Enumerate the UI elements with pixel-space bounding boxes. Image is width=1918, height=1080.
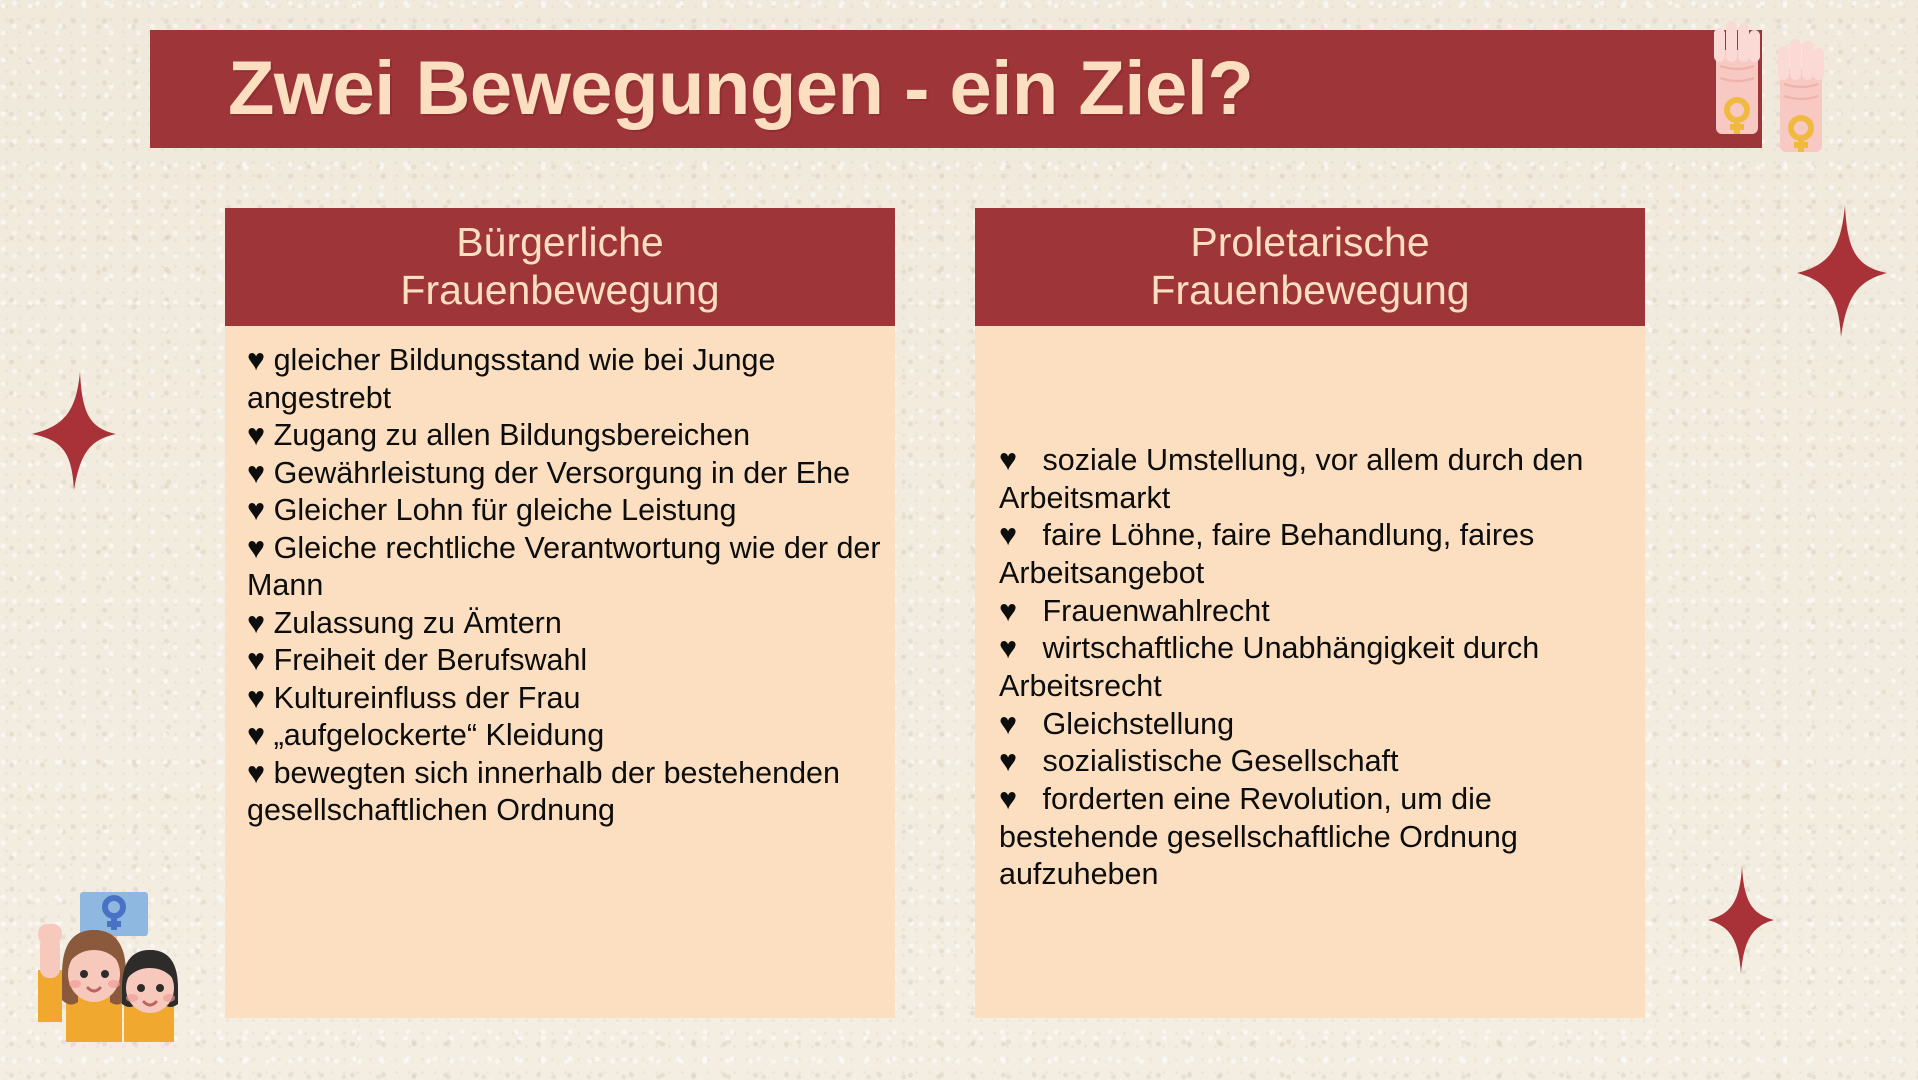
list-item-text: wirtschaftliche Unabhängigkeit durch Arb… [999,631,1539,703]
list-item-text: Frauenwahlrecht [1043,594,1270,628]
heart-bullet-icon: ♥ [999,443,1017,477]
list-item-text: Gewährleistung der Versorgung in der Ehe [274,456,850,490]
list-item-text: bewegten sich innerhalb der bestehenden … [247,756,840,828]
list-item-text: forderten eine Revolution, um die besteh… [999,782,1518,891]
heart-bullet-icon: ♥ [247,418,265,452]
list-item: ♥ Gewährleistung der Versorgung in der E… [247,455,883,493]
list-item: ♥ faire Löhne, faire Behandlung, faires … [999,517,1633,592]
list-item: ♥ „aufgelockerte“ Kleidung [247,717,883,755]
column-header-proletarische: Proletarische Frauenbewegung [975,208,1645,326]
list-item: ♥ wirtschaftliche Unabhängigkeit durch A… [999,630,1633,705]
heart-bullet-icon: ♥ [999,518,1017,552]
list-item-text: Zugang zu allen Bildungsbereichen [274,418,750,452]
column-body-proletarische: ♥ soziale Umstellung, vor allem durch de… [975,326,1645,904]
heart-bullet-icon: ♥ [999,594,1017,628]
column-heading-line1: Proletarische [1190,219,1429,267]
column-header-buergerliche: Bürgerliche Frauenbewegung [225,208,895,326]
list-item: ♥ Gleiche rechtliche Verantwortung wie d… [247,530,883,605]
list-item-text: faire Löhne, faire Behandlung, faires Ar… [999,518,1534,590]
heart-bullet-icon: ♥ [999,631,1017,665]
list-item: ♥ Zugang zu allen Bildungsbereichen [247,417,883,455]
list-item: ♥ soziale Umstellung, vor allem durch de… [999,442,1633,517]
list-item: ♥ Kultureinfluss der Frau [247,680,883,718]
list-item: ♥ Freiheit der Berufswahl [247,642,883,680]
list-item: ♥ Gleichstellung [999,706,1633,744]
page-title: Zwei Bewegungen - ein Ziel? [228,51,1253,127]
list-item: ♥ forderten eine Revolution, um die best… [999,781,1633,894]
heart-bullet-icon: ♥ [247,681,265,715]
column-proletarische: Proletarische Frauenbewegung ♥ soziale U… [975,208,1645,1018]
list-item-text: Kultureinfluss der Frau [274,681,581,715]
heart-bullet-icon: ♥ [247,493,265,527]
list-item-text: Gleicher Lohn für gleiche Leistung [274,493,737,527]
four-point-star-icon [28,372,120,490]
bullet-list-buergerliche: ♥ gleicher Bildungsstand wie bei Junge a… [247,342,883,830]
title-banner: Zwei Bewegungen - ein Ziel? [150,30,1762,148]
four-point-star-icon [1706,866,1776,974]
column-buergerliche: Bürgerliche Frauenbewegung ♥ gleicher Bi… [225,208,895,1018]
list-item-text: Gleiche rechtliche Verantwortung wie der… [247,531,881,603]
column-heading-line1: Bürgerliche [456,219,663,267]
column-heading-line2: Frauenbewegung [400,267,719,315]
list-item-text: „aufgelockerte“ Kleidung [274,718,605,752]
heart-bullet-icon: ♥ [247,643,265,677]
heart-bullet-icon: ♥ [999,744,1017,778]
heart-bullet-icon: ♥ [999,782,1017,816]
bullet-list-proletarische: ♥ soziale Umstellung, vor allem durch de… [999,442,1633,894]
heart-bullet-icon: ♥ [247,343,265,377]
list-item-text: sozialistische Gesellschaft [1043,744,1399,778]
column-body-buergerliche: ♥ gleicher Bildungsstand wie bei Junge a… [225,326,895,840]
heart-bullet-icon: ♥ [247,756,265,790]
column-heading-line2: Frauenbewegung [1150,267,1469,315]
list-item-text: Freiheit der Berufswahl [274,643,588,677]
list-item: ♥ bewegten sich innerhalb der bestehende… [247,755,883,830]
heart-bullet-icon: ♥ [247,606,265,640]
heart-bullet-icon: ♥ [247,531,265,565]
list-item: ♥ sozialistische Gesellschaft [999,743,1633,781]
list-item-text: Gleichstellung [1043,707,1235,741]
list-item-text: soziale Umstellung, vor allem durch den … [999,443,1583,515]
raised-fist-icon [1772,34,1830,154]
list-item: ♥ Frauenwahlrecht [999,593,1633,631]
list-item: ♥ gleicher Bildungsstand wie bei Junge a… [247,342,883,417]
four-point-star-icon [1795,205,1891,337]
heart-bullet-icon: ♥ [247,456,265,490]
slide-canvas: Zwei Bewegungen - ein Ziel? [0,0,1918,1080]
two-women-protest-icon [28,862,200,1042]
list-item-text: gleicher Bildungsstand wie bei Junge ang… [247,343,775,415]
list-item-text: Zulassung zu Ämtern [274,606,562,640]
list-item: ♥ Zulassung zu Ämtern [247,605,883,643]
heart-bullet-icon: ♥ [247,718,265,752]
list-item: ♥ Gleicher Lohn für gleiche Leistung [247,492,883,530]
heart-bullet-icon: ♥ [999,707,1017,741]
